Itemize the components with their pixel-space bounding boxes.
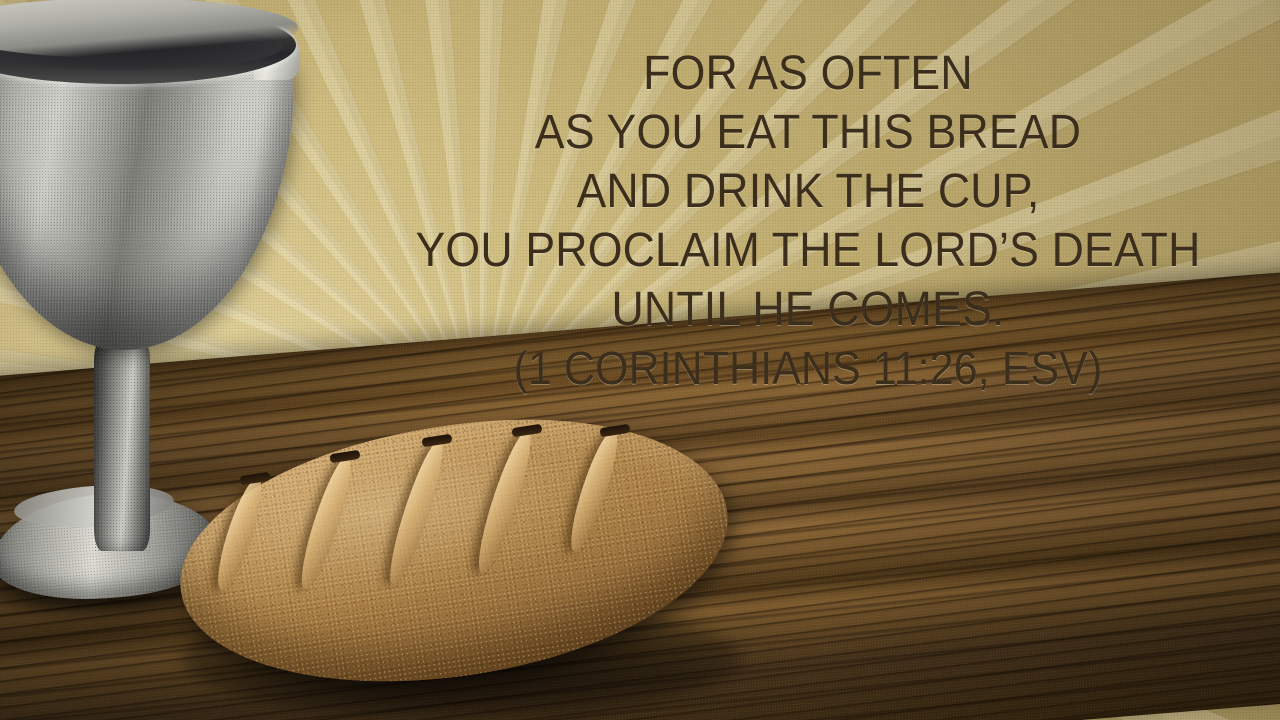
verse-line-4: YOU PROCLAIM THE LORD’S DEATH <box>384 221 1232 280</box>
verse-line-3: AND DRINK THE CUP, <box>384 162 1232 221</box>
verse-line-1: FOR AS OFTEN <box>384 44 1232 103</box>
verse-line-2: AS YOU EAT THIS BREAD <box>384 103 1232 162</box>
communion-slide: FOR AS OFTEN AS YOU EAT THIS BREAD AND D… <box>0 0 1280 720</box>
chalice-stem <box>94 339 150 551</box>
verse-citation: (1 CORINTHIANS 11:26, ESV) <box>384 339 1232 398</box>
scripture-verse: FOR AS OFTEN AS YOU EAT THIS BREAD AND D… <box>384 44 1232 398</box>
verse-line-5: UNTIL HE COMES. <box>384 280 1232 339</box>
chalice-stem-texture <box>94 339 150 551</box>
bread-loaf-icon <box>172 412 738 702</box>
